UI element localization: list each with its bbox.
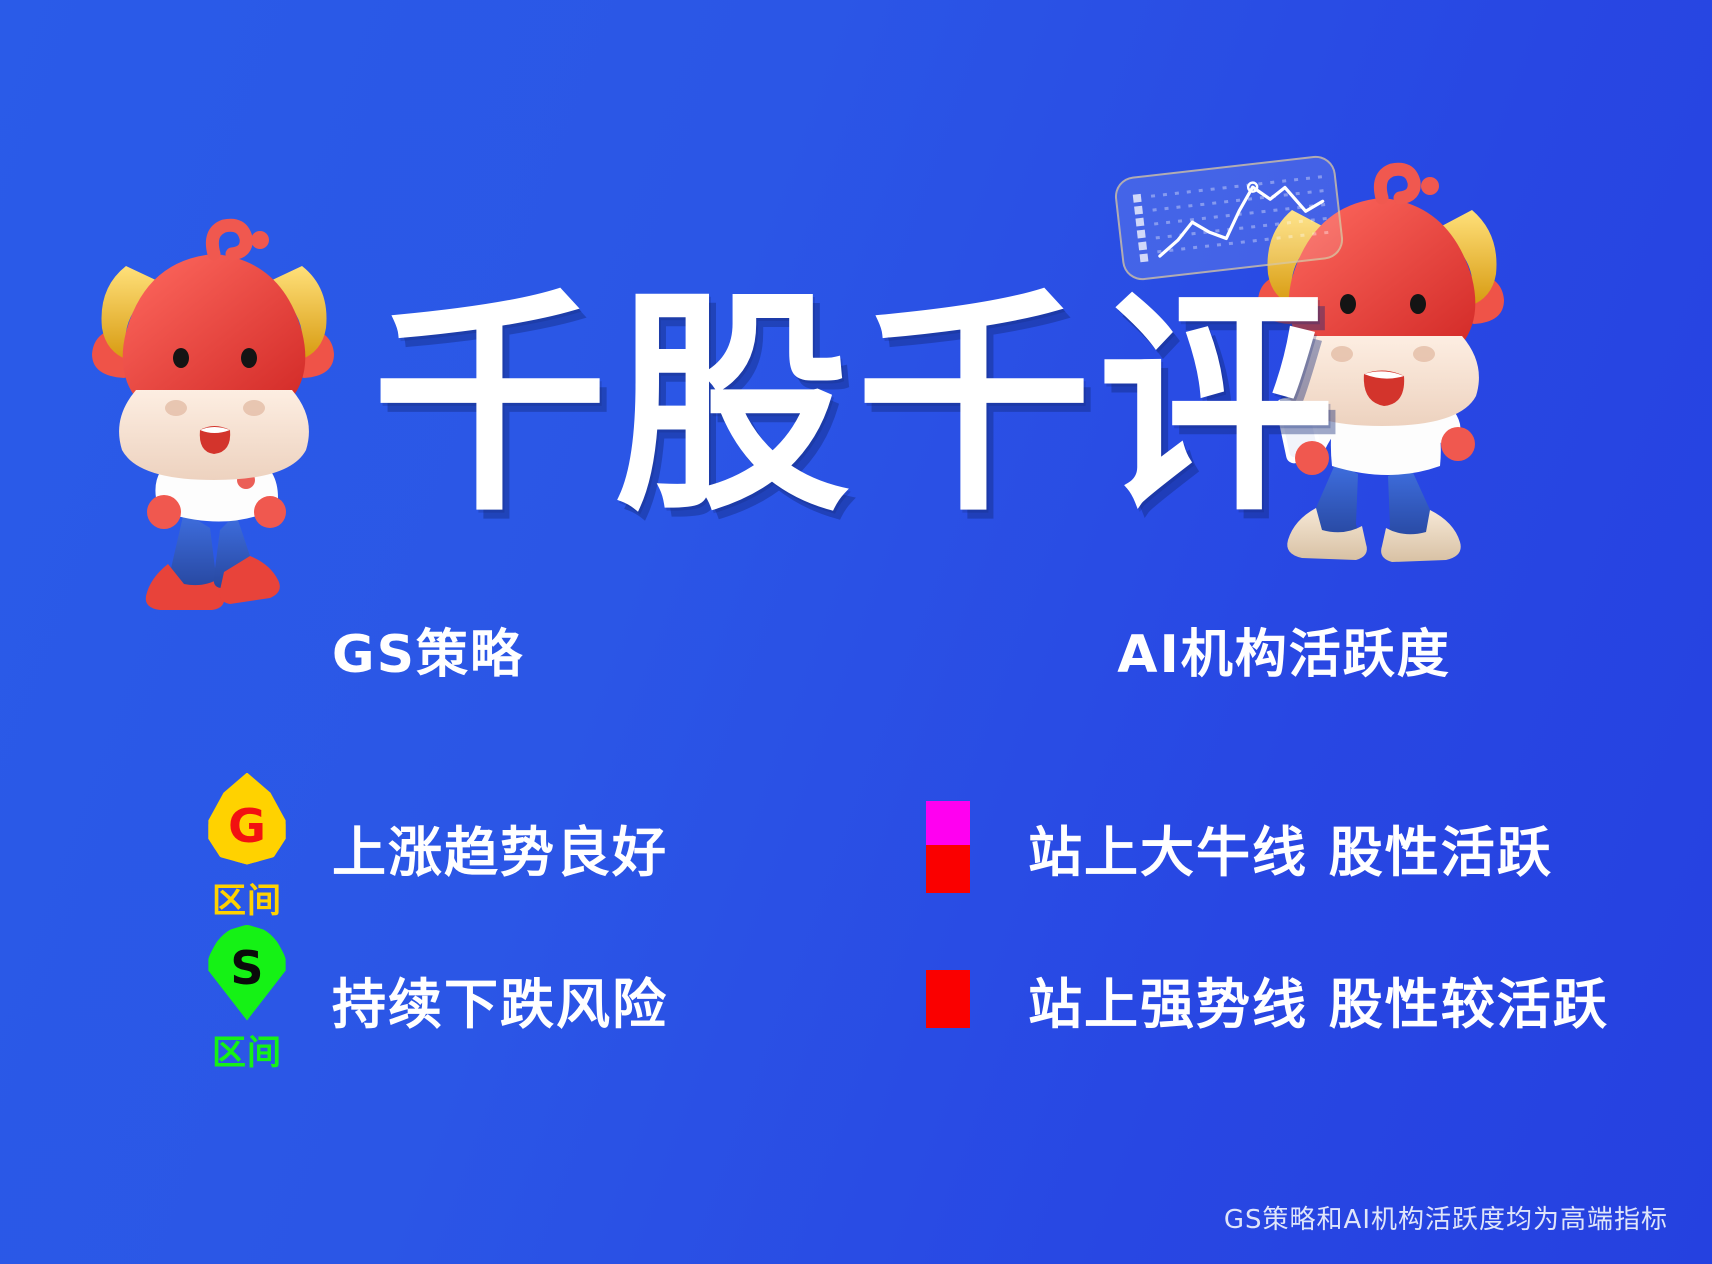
g-pin-letter: G <box>228 803 266 849</box>
s-pin-icon: S <box>205 925 289 1021</box>
gs-row-text-downtrend: 持续下跌风险 <box>332 960 668 1039</box>
gs-s-badge: S 区间 <box>188 925 306 1074</box>
gs-g-badge: G 区间 <box>188 773 306 922</box>
g-pin-icon: G <box>205 773 289 869</box>
column-ai-activity: AI机构活跃度 站上大牛线 股性活跃 <box>856 612 1712 1132</box>
ai-rows: 站上大牛线 股性活跃 站上强势线 股性较活跃 <box>856 771 1712 1075</box>
column-heading-gs: GS策略 <box>0 612 856 687</box>
red-bar-icon <box>926 970 970 1028</box>
list-item-ai-bull-line[interactable]: 站上大牛线 股性活跃 <box>856 771 1712 923</box>
list-item-gs-downtrend[interactable]: S 区间 持续下跌风险 <box>0 923 856 1075</box>
page-title: 千股千评 <box>372 288 1340 524</box>
poster-canvas: 千股千评 GS策略 G 区间 上涨趋势良好 <box>0 0 1712 1264</box>
ai-row-text-strong-line: 站上强势线 股性较活跃 <box>1028 960 1609 1039</box>
list-item-ai-strong-line[interactable]: 站上强势线 股性较活跃 <box>856 923 1712 1075</box>
indicator-columns: GS策略 G 区间 上涨趋势良好 <box>0 612 1712 1132</box>
gs-row-text-uptrend: 上涨趋势良好 <box>332 808 668 887</box>
g-badge-caption: 区间 <box>212 873 282 922</box>
list-item-gs-uptrend[interactable]: G 区间 上涨趋势良好 <box>0 771 856 923</box>
ai-row-text-bull-line: 站上大牛线 股性活跃 <box>1028 808 1553 887</box>
gs-rows: G 区间 上涨趋势良好 S 区间 <box>0 771 856 1075</box>
ai-bar-1-box <box>892 801 1004 893</box>
column-heading-ai: AI机构活跃度 <box>856 612 1712 687</box>
s-badge-caption: 区间 <box>212 1025 282 1074</box>
bull-mascot-left <box>64 212 364 612</box>
column-gs-strategy: GS策略 G 区间 上涨趋势良好 <box>0 612 856 1132</box>
ai-bar-2-box <box>892 970 1004 1028</box>
magenta-red-bar-icon <box>926 801 970 893</box>
footer-note: GS策略和AI机构活跃度均为高端指标 <box>1224 1199 1668 1236</box>
s-pin-letter: S <box>230 945 263 991</box>
